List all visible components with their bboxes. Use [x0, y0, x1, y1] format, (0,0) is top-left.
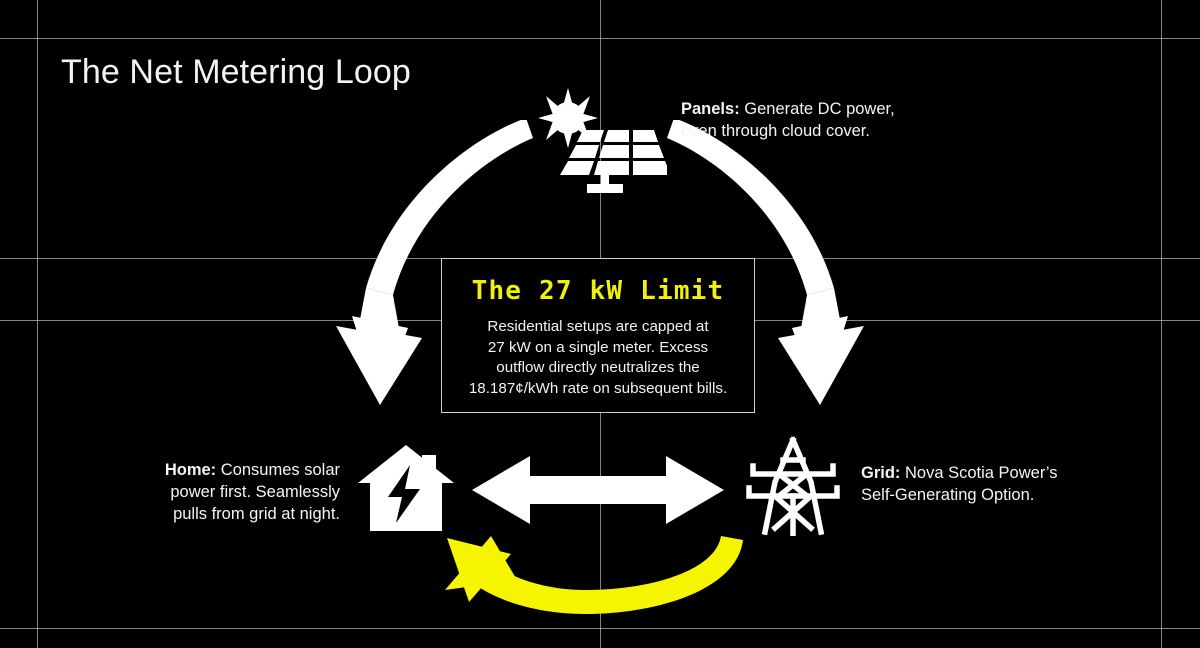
annotation-panels-term: Panels: [681, 100, 740, 118]
callout-heading: The 27 kW Limit [442, 278, 754, 304]
annotation-home-line-3: pulls from grid at night. [100, 504, 340, 526]
bidirectional-arrow-home-grid [470, 452, 726, 528]
annotation-home-line-1: Home: Consumes solar [100, 460, 340, 482]
annotation-grid-term: Grid: [861, 464, 900, 482]
curved-arrow-grid-to-home [425, 518, 755, 622]
callout-body-line-3: outflow directly neutralizes the [450, 358, 746, 379]
gridline-horizontal-4 [0, 628, 1200, 629]
annotation-home-line-2: power first. Seamlessly [100, 482, 340, 504]
annotation-grid-line-1: Grid: Nova Scotia Power’s [861, 463, 1171, 485]
gridline-horizontal-1 [0, 38, 1200, 39]
annotation-home: Home: Consumes solar power first. Seamle… [100, 460, 340, 526]
annotation-panels-line-1: Panels: Generate DC power, [681, 99, 981, 121]
infographic-canvas: The Net Metering Loop [0, 0, 1200, 648]
annotation-home-term: Home: [165, 461, 216, 479]
annotation-panels-line-2: even through cloud cover. [681, 121, 981, 143]
transmission-tower-icon [745, 436, 841, 536]
gridline-vertical-3 [1161, 0, 1162, 648]
annotation-grid: Grid: Nova Scotia Power’s Self-Generatin… [861, 463, 1171, 507]
callout-body-line-4: 18.187¢/kWh rate on subsequent bills. [450, 379, 746, 400]
callout-body: Residential setups are capped at 27 kW o… [442, 317, 754, 400]
callout-body-line-1: Residential setups are capped at [450, 317, 746, 338]
page-title: The Net Metering Loop [61, 53, 411, 92]
gridline-vertical-1 [37, 0, 38, 648]
house-with-bolt-icon [358, 443, 454, 531]
annotation-panels-text: Generate DC power, [740, 100, 895, 118]
annotation-panels: Panels: Generate DC power, even through … [681, 99, 981, 143]
annotation-home-text: Consumes solar [216, 461, 340, 479]
annotation-grid-line-2: Self-Generating Option. [861, 485, 1171, 507]
annotation-grid-text: Nova Scotia Power’s [900, 464, 1057, 482]
callout-body-line-2: 27 kW on a single meter. Excess [450, 338, 746, 359]
callout-box-27kw-limit: The 27 kW Limit Residential setups are c… [441, 258, 755, 413]
solar-panel-icon [527, 86, 667, 196]
